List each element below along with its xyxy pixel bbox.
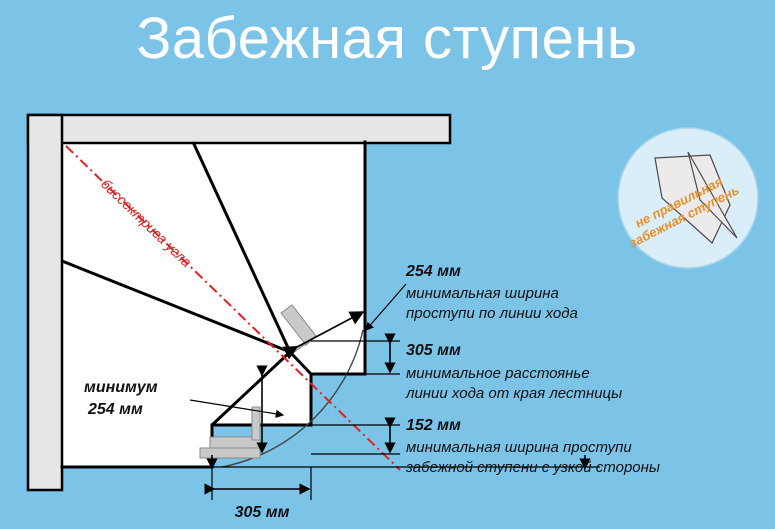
annotation-value-2: 152 мм [406, 417, 461, 434]
winder-stair-diagram: Забежная ступень биссектриса угла [0, 0, 775, 529]
nosing-marker-vertical [252, 407, 260, 440]
annotation-value-0: 254 мм [405, 263, 461, 280]
bottom-dimension-label: 305 мм [235, 504, 290, 521]
top-wall [28, 115, 450, 143]
left-note-line1: минимум [84, 379, 158, 396]
annotation-desc-1-line1: минимальное расстоянье [406, 365, 590, 382]
annotation-desc-2-line2: забежной ступени с узкой стороны [405, 459, 660, 476]
annotation-desc-0-line1: минимальная ширина [406, 285, 559, 302]
page-title: Забежная ступень [136, 6, 637, 71]
annotation-desc-0-line2: проступи по линии хода [406, 305, 578, 322]
nosing-marker-horizontal-foot [200, 448, 260, 458]
left-wall [28, 115, 62, 490]
left-note-line2: 254 мм [87, 401, 143, 418]
annotation-desc-1-line2: линии хода от края лестницы [405, 385, 622, 402]
annotation-value-1: 305 мм [406, 342, 461, 359]
annotation-desc-2-line1: минимальная ширина проступи [406, 439, 632, 456]
diagram-page: Забежная ступень биссектриса угла [0, 0, 775, 529]
